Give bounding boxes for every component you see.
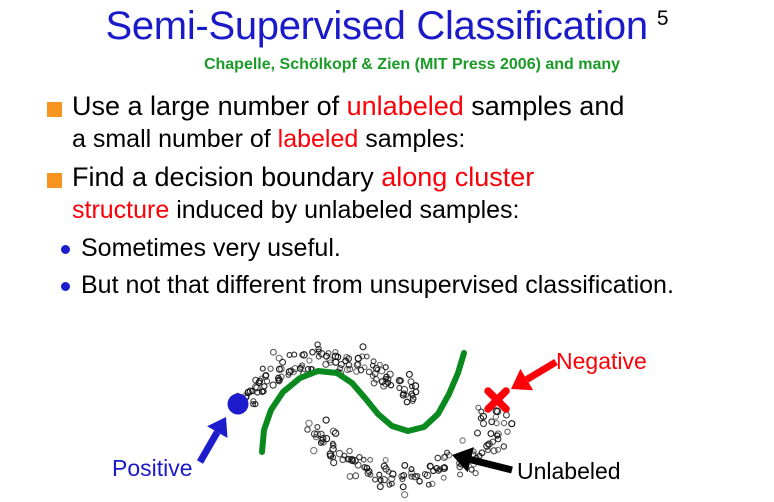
scatter-point	[401, 386, 407, 392]
scatter-point	[368, 457, 373, 462]
scatter-point	[260, 366, 265, 371]
scatter-point	[402, 492, 408, 498]
scatter-point	[373, 477, 378, 482]
scatter-point	[417, 479, 422, 484]
scatter-point	[404, 399, 410, 405]
positive-arrow-shaft	[200, 432, 217, 462]
positive-label: Positive	[112, 455, 193, 481]
scatter-point	[305, 427, 310, 432]
scatter-point	[361, 457, 366, 462]
scatter-point	[381, 477, 387, 483]
scatter-point	[377, 484, 383, 490]
scatter-point	[307, 358, 312, 363]
scatter-point	[402, 463, 408, 469]
scatter-point	[268, 366, 273, 371]
scatter-point	[469, 467, 474, 472]
scatter-point	[488, 431, 494, 437]
scatter-point	[306, 420, 312, 426]
scatter-point	[360, 344, 366, 350]
scatter-point	[377, 472, 382, 477]
scatter-point	[271, 349, 277, 355]
unlabeled-points-group	[235, 342, 515, 498]
unlabeled-label: Unlabeled	[517, 458, 621, 484]
scatter-point	[476, 405, 481, 410]
scatter-point	[262, 384, 267, 389]
two-moons-scatter-figure	[0, 0, 774, 502]
scatter-point	[501, 444, 506, 449]
scatter-point	[406, 371, 412, 377]
scatter-point	[355, 462, 361, 468]
scatter-point	[338, 362, 344, 368]
scatter-point	[331, 460, 337, 466]
scatter-point	[412, 383, 418, 389]
scatter-point	[458, 472, 463, 477]
scatter-point	[435, 455, 441, 461]
scatter-point	[315, 425, 320, 430]
scatter-point	[481, 421, 487, 427]
slide-canvas: Semi-Supervised Classification5 Chapelle…	[0, 0, 774, 502]
scatter-point	[280, 359, 286, 365]
negative-label: Negative	[556, 348, 647, 374]
scatter-point	[409, 467, 414, 472]
scatter-point	[503, 412, 509, 418]
scatter-point	[495, 447, 500, 452]
scatter-point	[505, 429, 510, 434]
unlabeled-arrow-head	[452, 447, 474, 472]
scatter-point	[353, 473, 359, 479]
scatter-point	[501, 420, 506, 425]
scatter-point	[270, 382, 276, 388]
negative-sample-marker	[488, 391, 506, 409]
scatter-point	[475, 430, 481, 436]
scatter-point	[311, 447, 317, 453]
scatter-point	[323, 417, 329, 423]
scatter-point	[362, 365, 367, 370]
scatter-point	[441, 475, 446, 480]
scatter-point	[347, 474, 353, 480]
scatter-point	[509, 421, 515, 427]
scatter-point	[489, 419, 495, 425]
negative-arrow-shaft	[527, 362, 556, 380]
positive-sample-marker	[228, 394, 249, 415]
scatter-point	[347, 448, 352, 453]
scatter-point	[310, 349, 315, 354]
scatter-point	[400, 484, 406, 490]
scatter-point	[460, 438, 465, 443]
scatter-point	[383, 458, 388, 463]
